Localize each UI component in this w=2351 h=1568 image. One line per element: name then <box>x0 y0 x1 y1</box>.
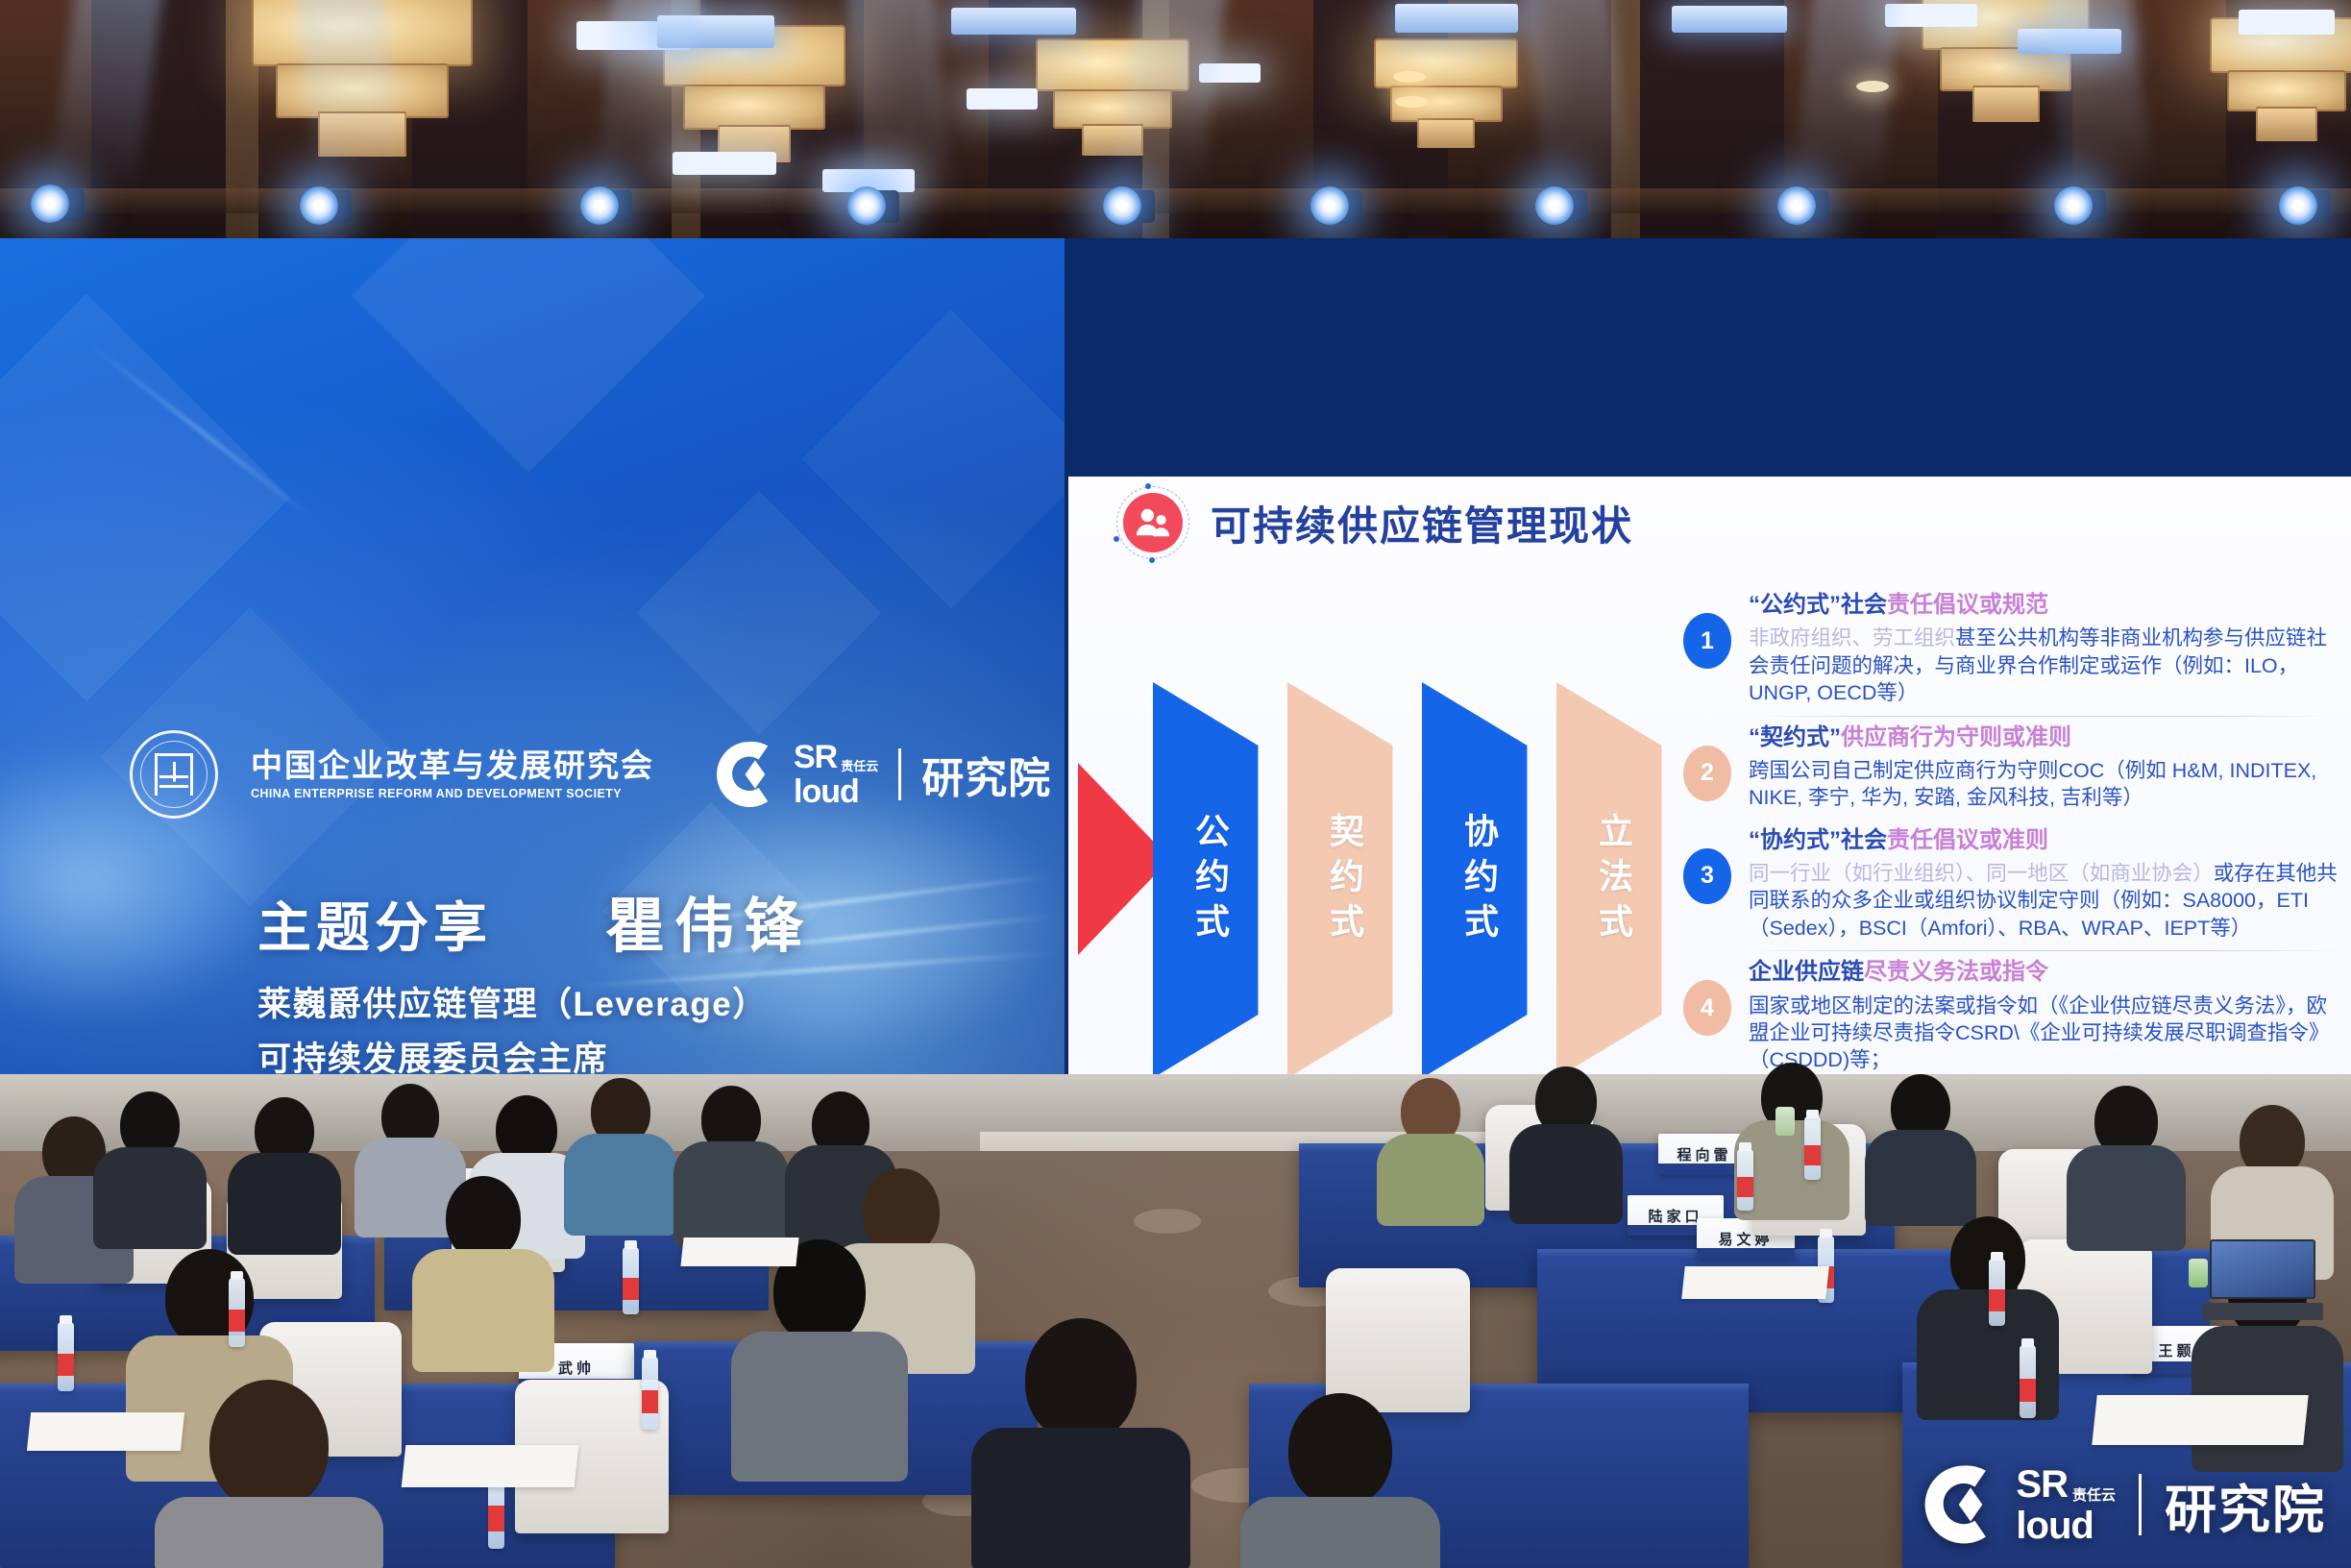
chevron-label: 契约式 <box>1319 813 1369 948</box>
item-body: 同一行业（如行业组织）、同一地区（如商业协会）或存在其他共同联系的众多企业或组织… <box>1749 860 2340 942</box>
csr-c-mark-icon <box>1922 1462 2006 1547</box>
audience-member <box>1239 1393 1441 1568</box>
item-heading-accent: 责任倡议或规范 <box>1887 592 2048 618</box>
slide-item-list: 1 “公约式”社会责任倡议或规范 非政府组织、劳工组织甚至公共机构等非商业机构参… <box>1676 590 2348 1074</box>
water-bottle <box>642 1357 658 1430</box>
chevron-label: 公约式 <box>1185 813 1235 948</box>
list-item: 3 “协约式”社会责任倡议或准则 同一行业（如行业组织）、同一地区（如商业协会）… <box>1676 825 2348 952</box>
led-wall-left-panel: 中国企业改革与发展研究会 CHINA ENTERPRISE REFORM AND… <box>0 238 1065 1074</box>
item-body: 跨国公司自己制定供应商行为守则COC（例如 H&M, INDITEX, NIKE… <box>1749 757 2340 812</box>
document-paper <box>1681 1266 1829 1299</box>
audience-member <box>730 1239 909 1480</box>
item-heading: “契约式”供应商行为守则或准则 <box>1749 723 2340 753</box>
session-header: 主题分享 瞿伟锋 <box>257 877 813 964</box>
audience-member <box>1916 1216 2060 1418</box>
stage-spotlight <box>1310 186 1349 225</box>
water-bottle <box>1804 1116 1821 1180</box>
audience-member <box>154 1380 384 1568</box>
document-paper <box>680 1237 798 1266</box>
stage-spotlight <box>1103 186 1141 225</box>
list-item: 1 “公约式”社会责任倡议或规范 非政府组织、劳工组织甚至公共机构等非商业机构参… <box>1676 590 2348 717</box>
water-bottle <box>229 1278 245 1347</box>
csr-cloud-logo: SR 责任云 loud 研究院 <box>714 739 1051 810</box>
item-body: 非政府组织、劳工组织甚至公共机构等非商业机构参与供应链社会责任问题的解决，与商业… <box>1749 625 2340 706</box>
csr-cloud-watermark: SR 责任云 loud 研究院 <box>1922 1462 2326 1547</box>
audience-member <box>411 1176 555 1368</box>
csr-loud-text: loud <box>794 775 878 808</box>
item-body-fade: 同一行业（如行业组织）、同一地区（如商业协会） <box>1749 862 2214 885</box>
document-paper <box>27 1412 184 1451</box>
water-bottle <box>1737 1149 1753 1211</box>
speaker-title: 莱巍爵供应链管理（Leverage） 可持续发展委员会主席 <box>257 978 768 1074</box>
people-group-icon <box>1116 486 1189 559</box>
speaker-title-line1: 莱巍爵供应链管理（Leverage） <box>257 978 768 1033</box>
watermark-divider <box>2139 1474 2142 1535</box>
cerds-seal-icon <box>130 730 218 819</box>
chevron-diagram: 公约式 契约式 协约式 立法式 <box>1078 601 1674 1074</box>
watermark-loud-text: loud <box>2016 1507 2116 1545</box>
audience-member <box>673 1086 790 1243</box>
csr-zerenyun-text: 责任云 <box>841 760 878 773</box>
slide-title-row: 可持续供应链管理现状 <box>1116 486 1633 559</box>
logo-divider <box>898 748 901 800</box>
item-number: 1 <box>1683 613 1731 669</box>
item-heading-accent: 供应商行为守则或准则 <box>1841 724 2071 750</box>
stage-spotlight <box>580 186 619 225</box>
conference-photo: 中国企业改革与发展研究会 CHINA ENTERPRISE REFORM AND… <box>0 0 2351 1568</box>
stage-spotlight <box>1777 186 1816 225</box>
item-heading-dark: “协约式”社会 <box>1749 827 1887 853</box>
csr-institute-text: 研究院 <box>921 744 1051 805</box>
item-heading: “协约式”社会责任倡议或准则 <box>1749 825 2340 856</box>
audience-member <box>1374 1078 1487 1222</box>
audience-member <box>1864 1074 1977 1224</box>
speaker-name: 瞿伟锋 <box>605 877 813 964</box>
watermark-sr-text: SR <box>2016 1465 2068 1504</box>
audience-member <box>92 1091 208 1245</box>
chevron-label: 协约式 <box>1454 813 1504 948</box>
laptop <box>2210 1239 2315 1320</box>
water-bottle <box>58 1322 74 1391</box>
item-heading-dark: “公约式”社会 <box>1749 592 1887 618</box>
item-heading-accent: 尽责义务法或指令 <box>1864 959 2048 985</box>
chevron-label: 立法式 <box>1588 813 1638 948</box>
water-bottle <box>623 1247 639 1314</box>
stage-spotlight <box>31 184 69 223</box>
item-number: 4 <box>1683 980 1731 1036</box>
stage-spotlight <box>2279 186 2317 225</box>
ceiling <box>0 0 2351 248</box>
speaker-title-line2: 可持续发展委员会主席 <box>257 1033 768 1074</box>
placard-name: 程向雷 <box>1677 1144 1731 1164</box>
water-bottle <box>1989 1259 2005 1326</box>
audience-member <box>970 1318 1191 1568</box>
item-heading: 企业供应链尽责义务法或指令 <box>1749 957 2340 988</box>
item-body: 国家或地区制定的法案或指令如（《企业供应链尽责义务法》，欧盟企业可持续尽责指令C… <box>1749 992 2340 1074</box>
water-bottle <box>2020 1345 2036 1418</box>
session-label: 主题分享 <box>257 885 492 963</box>
item-divider <box>1749 950 2340 951</box>
list-item: 4 企业供应链尽责义务法或指令 国家或地区制定的法案或指令如（《企业供应链尽责义… <box>1676 957 2348 1074</box>
cerds-name-en: CHINA ENTERPRISE REFORM AND DEVELOPMENT … <box>251 787 654 800</box>
document-paper <box>402 1445 579 1487</box>
watermark-zerenyun-text: 责任云 <box>2072 1488 2116 1504</box>
item-body-fade: 非政府组织、劳工组织 <box>1749 626 1955 649</box>
placard-name: 陆家口 <box>1648 1206 1702 1226</box>
chevron-step-1: 公约式 <box>1153 682 1299 1074</box>
chevron-step-2: 契约式 <box>1287 682 1433 1074</box>
chair <box>1326 1268 1470 1412</box>
item-number: 3 <box>1683 848 1731 904</box>
item-heading-dark: “契约式” <box>1749 724 1841 750</box>
ceiling-lantern <box>2210 17 2351 138</box>
item-heading-dark: 企业供应链 <box>1749 959 1864 985</box>
watermark-institute-text: 研究院 <box>2165 1467 2326 1543</box>
document-paper <box>2092 1395 2308 1445</box>
item-number: 2 <box>1683 746 1731 801</box>
audience-member <box>2066 1086 2187 1249</box>
presentation-slide: 可持续供应链管理现状 公约式 契约式 <box>1068 477 2351 1074</box>
led-wall: 中国企业改革与发展研究会 CHINA ENTERPRISE REFORM AND… <box>0 238 2351 1074</box>
tea-cup <box>2189 1259 2208 1287</box>
led-wall-logo-bar: 中国企业改革与发展研究会 CHINA ENTERPRISE REFORM AND… <box>130 730 1051 819</box>
ceiling-lantern <box>1374 38 1518 146</box>
item-heading: “公约式”社会责任倡议或规范 <box>1749 590 2340 621</box>
tea-cup <box>1775 1107 1795 1136</box>
item-body-main: 国家或地区制定的法案或指令如（《企业供应链尽责义务法》，欧盟企业可持续尽责指令C… <box>1749 994 2329 1072</box>
item-heading-accent: 责任倡议或准则 <box>1887 827 2048 853</box>
chevron-step-3: 协约式 <box>1422 682 1568 1074</box>
csr-sr-text: SR <box>794 741 837 773</box>
slide-title: 可持续供应链管理现状 <box>1211 494 1633 552</box>
placard-name: 武帅 <box>558 1358 595 1378</box>
csr-c-mark-icon <box>714 739 785 810</box>
audience-member <box>563 1078 678 1232</box>
list-item: 2 “契约式”供应商行为守则或准则 跨国公司自己制定供应商行为守则COC（例如 … <box>1676 723 2348 812</box>
audience-member <box>1508 1066 1624 1220</box>
audience-member <box>227 1097 342 1251</box>
cerds-name-cn: 中国企业改革与发展研究会 <box>251 748 654 784</box>
item-body-main: 跨国公司自己制定供应商行为守则COC（例如 H&M, INDITEX, NIKE… <box>1749 759 2316 809</box>
item-divider <box>1749 716 2340 717</box>
